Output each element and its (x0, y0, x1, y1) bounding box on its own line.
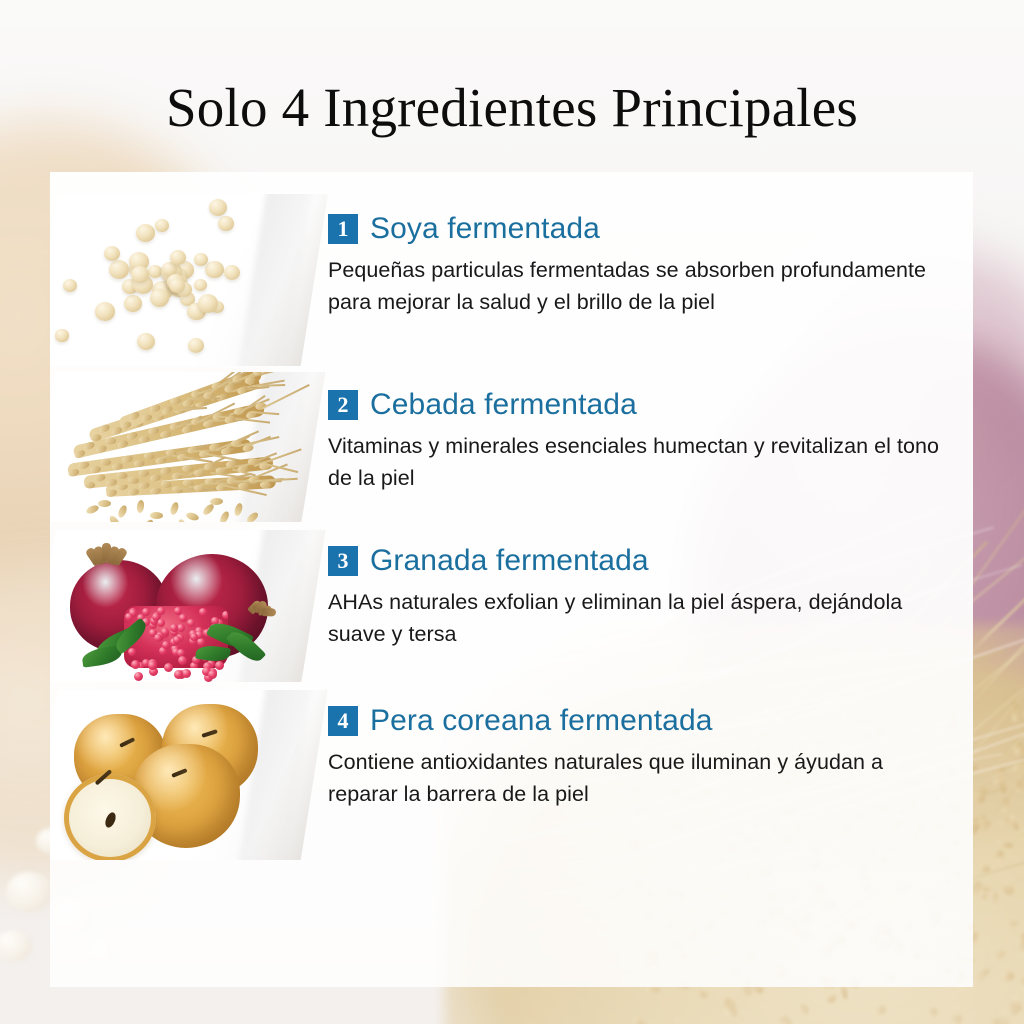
ingredient-text-1: 1 Soya fermentada Pequeñas particulas fe… (328, 212, 973, 318)
ingredient-description-2: Vitaminas y minerales esenciales humecta… (328, 430, 958, 494)
korean-pear-illustration (50, 690, 330, 860)
barley-photo (50, 372, 330, 522)
ingredient-description-1: Pequeñas particulas fermentadas se absor… (328, 254, 958, 318)
ingredient-name-2: Cebada fermentada (370, 388, 637, 422)
ingredient-name-3: Granada fermentada (370, 544, 649, 578)
soybeans-illustration (50, 194, 330, 366)
ingredient-heading-3: 3 Granada fermentada (328, 544, 973, 578)
ingredient-text-4: 4 Pera coreana fermentada Contiene antio… (328, 704, 973, 810)
ingredient-row-1: 1 Soya fermentada Pequeñas particulas fe… (50, 194, 973, 366)
ingredient-text-2: 2 Cebada fermentada Vitaminas y minerale… (328, 388, 973, 494)
ingredient-row-2: 2 Cebada fermentada Vitaminas y minerale… (50, 372, 973, 522)
ingredient-row-4: 4 Pera coreana fermentada Contiene antio… (50, 690, 973, 860)
pomegranate-photo (50, 530, 330, 682)
ingredient-text-3: 3 Granada fermentada AHAs naturales exfo… (328, 544, 973, 650)
ingredient-heading-4: 4 Pera coreana fermentada (328, 704, 973, 738)
barley-illustration (50, 372, 330, 522)
ingredient-number-badge-1: 1 (328, 214, 358, 244)
infographic-stage: Solo 4 Ingredientes Principales 1 Soya f… (0, 0, 1024, 1024)
ingredient-number-badge-4: 4 (328, 706, 358, 736)
ingredient-heading-2: 2 Cebada fermentada (328, 388, 973, 422)
soybeans-photo (50, 194, 330, 366)
page-title: Solo 4 Ingredientes Principales (0, 76, 1024, 140)
ingredient-number-badge-3: 3 (328, 546, 358, 576)
ingredient-number-badge-2: 2 (328, 390, 358, 420)
pomegranate-illustration (50, 530, 330, 682)
ingredient-name-4: Pera coreana fermentada (370, 704, 713, 738)
ingredient-heading-1: 1 Soya fermentada (328, 212, 973, 246)
ingredient-name-1: Soya fermentada (370, 212, 600, 246)
korean-pear-photo (50, 690, 330, 860)
ingredient-description-4: Contiene antioxidantes naturales que ilu… (328, 746, 958, 810)
ingredient-description-3: AHAs naturales exfolian y eliminan la pi… (328, 586, 958, 650)
ingredient-row-3: 3 Granada fermentada AHAs naturales exfo… (50, 530, 973, 682)
ingredients-card: 1 Soya fermentada Pequeñas particulas fe… (50, 172, 973, 987)
